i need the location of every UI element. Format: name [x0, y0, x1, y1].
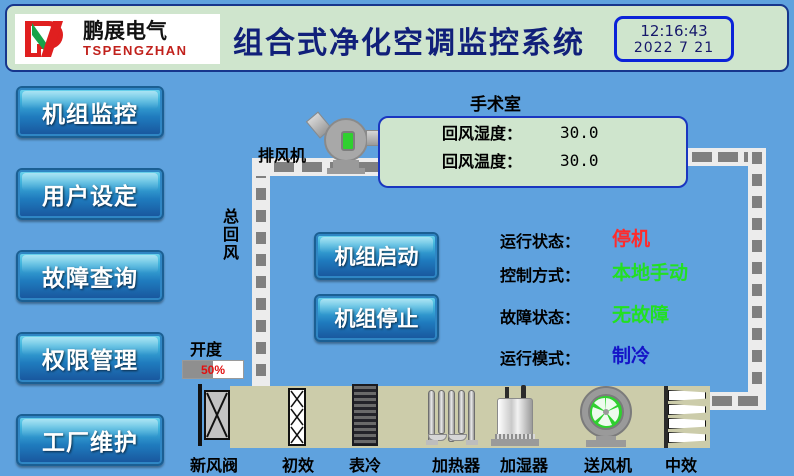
medium-filter-label: 中效	[648, 452, 714, 476]
company-logo: 鹏展电气 TSPENGZHAN	[15, 14, 220, 64]
run-status-value: 停机	[612, 224, 650, 251]
humidifier-label: 加湿器	[486, 452, 562, 476]
exhaust-fan-label: 排风机	[258, 142, 306, 166]
sidebar-item-user-settings[interactable]: 用户设定	[16, 168, 164, 220]
fault-status-label: 故障状态：	[500, 304, 580, 328]
run-mode-value: 制冷	[612, 341, 650, 368]
supply-fan-label: 送风机	[570, 452, 646, 476]
damper-opening-value: 50%	[183, 361, 243, 378]
control-mode-value: 本地手动	[612, 258, 688, 285]
sidebar-item-label: 机组监控	[42, 95, 138, 129]
clock-time: 12:16:43	[640, 22, 707, 40]
fresh-air-damper-body	[204, 390, 230, 440]
supply-fan-impeller	[588, 394, 624, 430]
run-mode-label: 运行模式：	[500, 345, 580, 369]
exhaust-fan-pedestal	[327, 168, 365, 174]
unit-start-label: 机组启动	[335, 241, 419, 271]
hmi-screen: 鹏展电气 TSPENGZHAN 组合式净化空调监控系统 12:16:43 202…	[0, 0, 794, 476]
unit-stop-label: 机组停止	[335, 303, 419, 333]
damper-opening-label: 开度	[190, 336, 222, 360]
heater-label: 加热器	[418, 452, 494, 476]
run-status-label: 运行状态：	[500, 228, 580, 252]
sidebar-item-label: 用户设定	[42, 177, 138, 211]
return-duct-vertical	[252, 158, 270, 394]
medium-filter-frame	[664, 386, 668, 448]
cooling-coil-label: 表冷	[335, 452, 395, 476]
exhaust-fan-housing	[324, 118, 368, 162]
tspengzhan-logo-icon	[19, 17, 81, 61]
primary-filter-label: 初效	[268, 452, 328, 476]
header-bar: 鹏展电气 TSPENGZHAN 组合式净化空调监控系统 12:16:43 202…	[5, 4, 789, 72]
primary-filter[interactable]	[288, 388, 306, 446]
page-title: 组合式净化空调监控系统	[229, 18, 589, 62]
sidebar-item-unit-monitoring[interactable]: 机组监控	[16, 86, 164, 138]
supply-duct-vertical	[748, 148, 766, 410]
sidebar-item-factory-maintenance[interactable]: 工厂维护	[16, 414, 164, 466]
clock-date: 2022 7 21	[634, 40, 714, 57]
damper-opening-bar[interactable]: 50%	[182, 360, 244, 379]
room-humidity-value: 30.0	[560, 123, 599, 142]
fresh-air-damper-label: 新风阀	[178, 452, 250, 476]
logo-wordmark: 鹏展电气 TSPENGZHAN	[83, 21, 188, 57]
sidebar-item-label: 工厂维护	[42, 423, 138, 457]
sidebar-item-label: 权限管理	[42, 341, 138, 375]
sidebar-item-label: 故障查询	[42, 259, 138, 293]
exhaust-fan-indicator	[341, 131, 355, 151]
room-title: 手术室	[470, 90, 521, 115]
supply-duct-to-ahu	[706, 392, 766, 410]
room-humidity-label: 回风湿度：	[442, 120, 522, 144]
sidebar-item-permission-management[interactable]: 权限管理	[16, 332, 164, 384]
room-readout-panel: 回风湿度： 30.0 回风温度： 30.0	[378, 116, 688, 188]
logo-chinese-name: 鹏展电气	[83, 21, 188, 42]
room-temperature-label: 回风温度：	[442, 148, 522, 172]
cooling-coil[interactable]	[352, 384, 378, 446]
logo-english-name: TSPENGZHAN	[83, 44, 188, 57]
fault-status-value: 无故障	[612, 300, 669, 327]
room-temperature-value: 30.0	[560, 151, 599, 170]
supply-fan-base	[586, 440, 626, 447]
unit-stop-button[interactable]: 机组停止	[314, 294, 439, 342]
clock-display: 12:16:43 2022 7 21	[614, 16, 734, 62]
return-air-label: 总回风	[222, 208, 240, 262]
unit-start-button[interactable]: 机组启动	[314, 232, 439, 280]
fresh-air-damper-post	[198, 384, 202, 446]
sidebar-item-fault-query[interactable]: 故障查询	[16, 250, 164, 302]
control-mode-label: 控制方式：	[500, 262, 580, 286]
